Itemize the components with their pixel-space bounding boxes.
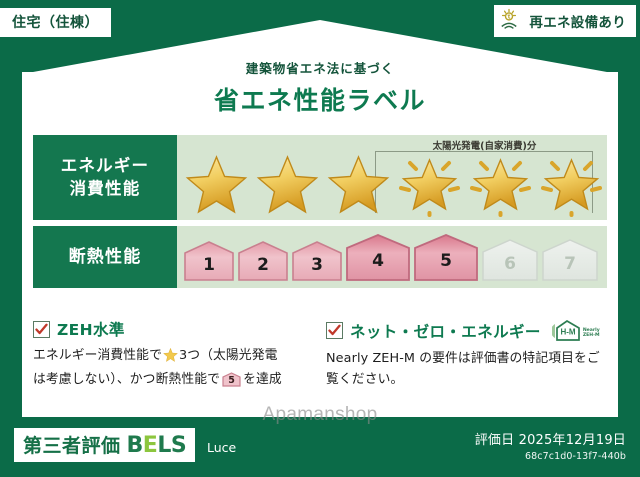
insulation-badge-value: 5 xyxy=(222,372,241,387)
star-filled-solar xyxy=(394,147,465,217)
renewable-equipment-badge: 再エネ設備あり xyxy=(494,5,636,37)
zeh-standard-title: ZEH水準 xyxy=(57,318,125,340)
bels-letter-l: L xyxy=(157,433,171,458)
energy-consumption-row: エネルギー 消費性能 太陽光発電(自家消費)分 xyxy=(33,135,607,220)
renewable-badge-label: 再エネ設備あり xyxy=(529,11,626,31)
zeh-m-logo-text: H-M xyxy=(560,328,575,337)
heading-title: 省エネ性能ラベル xyxy=(0,81,640,117)
performance-rows: エネルギー 消費性能 太陽光発電(自家消費)分 xyxy=(33,135,607,294)
insulation-level-4: 4 xyxy=(345,233,411,282)
star-rating xyxy=(181,147,611,217)
insulation-level-1: 1 xyxy=(183,240,235,282)
star-filled xyxy=(323,147,394,217)
insulation-level-7: 7 xyxy=(541,238,599,282)
insulation-level-3: 3 xyxy=(291,240,343,282)
heading-subtitle: 建築物省エネ法に基づく xyxy=(0,58,640,77)
star-filled-solar xyxy=(465,147,536,217)
insulation-level-4-value: 4 xyxy=(345,233,411,282)
insulation-level-2-value: 2 xyxy=(237,240,289,282)
insulation-level-scale: 1 2 3 xyxy=(183,232,599,282)
insulation-level-5: 5 xyxy=(413,233,479,282)
zeh-m-caption-line2: ZEH-M xyxy=(583,334,600,339)
footer-evaluation-info: 評価日 2025年12月19日 68c7c1d0-13f7-440b xyxy=(475,429,626,462)
solar-sun-icon xyxy=(500,8,524,34)
bels-letter-e: E xyxy=(143,433,158,458)
net-zero-body: Nearly ZEH-M の要件は評価書の特記項目をご覧ください。 xyxy=(326,349,601,390)
insulation-level-5-value: 5 xyxy=(413,233,479,282)
net-zero-heading: ネット・ゼロ・エネルギー H-M Nearly ZEH-M xyxy=(326,318,601,343)
label-footer: 第三者評価 BELS Luce 評価日 2025年12月19日 68c7c1d0… xyxy=(0,421,640,477)
energy-row-body: 太陽光発電(自家消費)分 xyxy=(177,135,607,220)
insulation-level-6: 6 xyxy=(481,238,539,282)
insulation-level-2: 2 xyxy=(237,240,289,282)
insulation-performance-row: 断熱性能 xyxy=(33,226,607,288)
zeh-text-part4: を達成 xyxy=(243,372,282,387)
bels-badge: 第三者評価 BELS xyxy=(14,428,195,462)
insulation-level-6-value: 6 xyxy=(481,238,539,282)
zeh-text-part3: は考慮しない）、かつ断熱性能で xyxy=(33,372,220,387)
energy-label-line2: 消費性能 xyxy=(70,178,141,200)
zeh-standard-note: ZEH水準 エネルギー消費性能で3つ（太陽光発電は考慮しない）、かつ断熱性能で5… xyxy=(33,318,322,390)
building-name: Luce xyxy=(207,440,236,455)
energy-performance-label: 住宅（住棟） 再エネ設備あり 建築物省エネ法に基づく 省エネ性能ラベル xyxy=(0,0,640,477)
zeh-text-part2: 3つ（太陽光発電 xyxy=(179,348,278,363)
insulation-level-7-value: 7 xyxy=(541,238,599,282)
bels-letter-b: B xyxy=(127,433,143,458)
star-inline-icon xyxy=(163,351,178,366)
evaluation-date: 評価日 2025年12月19日 xyxy=(475,429,626,448)
insulation-row-label: 断熱性能 xyxy=(33,226,177,288)
bels-jp-label: 第三者評価 xyxy=(23,431,121,458)
building-type-tag: 住宅（住棟） xyxy=(0,8,111,37)
insulation-level-1-value: 1 xyxy=(183,240,235,282)
notes-section: ZEH水準 エネルギー消費性能で3つ（太陽光発電は考慮しない）、かつ断熱性能で5… xyxy=(33,318,611,390)
net-zero-energy-note: ネット・ゼロ・エネルギー H-M Nearly ZEH-M Nearly ZEH… xyxy=(322,318,611,390)
energy-label-line1: エネルギー xyxy=(61,155,150,177)
energy-row-label: エネルギー 消費性能 xyxy=(33,135,177,220)
checkmark-icon xyxy=(326,322,343,339)
zeh-m-logo: H-M Nearly ZEH-M xyxy=(552,318,600,343)
bels-letter-s: S xyxy=(171,433,186,458)
insulation-badge-inline: 5 xyxy=(222,372,241,387)
zeh-standard-body: エネルギー消費性能で3つ（太陽光発電は考慮しない）、かつ断熱性能で5を達成 xyxy=(33,346,312,390)
net-zero-title: ネット・ゼロ・エネルギー xyxy=(350,320,541,342)
zeh-text-part1: エネルギー消費性能で xyxy=(33,348,162,363)
star-filled xyxy=(252,147,323,217)
checkmark-icon xyxy=(33,321,50,338)
insulation-row-body: 1 2 3 xyxy=(177,226,607,288)
star-filled-solar xyxy=(536,147,607,217)
evaluation-id: 68c7c1d0-13f7-440b xyxy=(475,451,626,462)
zeh-standard-heading: ZEH水準 xyxy=(33,318,312,340)
label-heading: 建築物省エネ法に基づく 省エネ性能ラベル xyxy=(0,58,640,117)
star-filled xyxy=(181,147,252,217)
bels-wordmark: BELS xyxy=(127,433,187,458)
insulation-level-3-value: 3 xyxy=(291,240,343,282)
